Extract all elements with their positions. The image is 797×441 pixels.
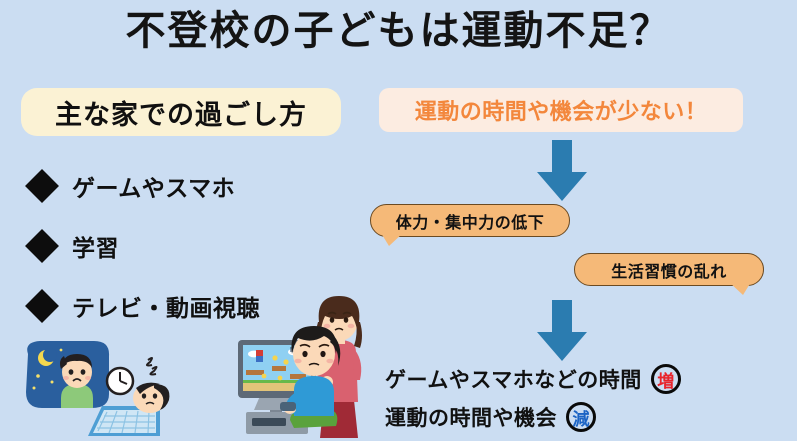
diamond-icon xyxy=(25,289,59,323)
increase-badge: 増 xyxy=(651,364,681,394)
gaming-child-parent-illustration xyxy=(228,292,378,441)
left-panel-header-label: 主な家での過ごし方 xyxy=(55,93,307,132)
infographic-canvas: 不登校の子どもは運動不足？ 主な家での過ごし方 ゲームやスマホ 学習 テレビ・動… xyxy=(0,0,797,441)
conclusion-row-decrease: 運動の時間や機会 減 xyxy=(385,398,785,436)
list-item: ゲームやスマホ xyxy=(26,156,356,216)
diamond-icon xyxy=(25,169,59,203)
conclusion-label: 運動の時間や機会 xyxy=(385,402,557,432)
decrease-badge: 減 xyxy=(566,402,596,432)
left-panel-header: 主な家での過ごし方 xyxy=(21,88,341,136)
list-item-label: 学習 xyxy=(72,229,119,263)
effect-bubble-label: 体力・集中力の低下 xyxy=(396,209,545,233)
list-item-label: ゲームやスマホ xyxy=(72,169,235,203)
arrow-down-icon xyxy=(535,140,589,202)
conclusion-block: ゲームやスマホなどの時間 増 運動の時間や機会 減 xyxy=(385,360,785,436)
arrow-down-icon xyxy=(535,300,589,362)
page-title: 不登校の子どもは運動不足？ xyxy=(0,6,797,56)
right-panel-headline-label: 運動の時間や機会が少ない！ xyxy=(415,94,708,126)
conclusion-row-increase: ゲームやスマホなどの時間 増 xyxy=(385,360,785,398)
diamond-icon xyxy=(25,229,59,263)
effect-bubble-lifestyle: 生活習慣の乱れ xyxy=(574,253,764,286)
conclusion-label: ゲームやスマホなどの時間 xyxy=(385,364,642,394)
effect-bubble-fitness: 体力・集中力の低下 xyxy=(370,204,570,237)
list-item: 学習 xyxy=(26,216,356,276)
sleepless-child-illustration xyxy=(14,336,194,441)
effect-bubble-label: 生活習慣の乱れ xyxy=(611,258,727,282)
right-panel-headline: 運動の時間や機会が少ない！ xyxy=(379,88,743,132)
